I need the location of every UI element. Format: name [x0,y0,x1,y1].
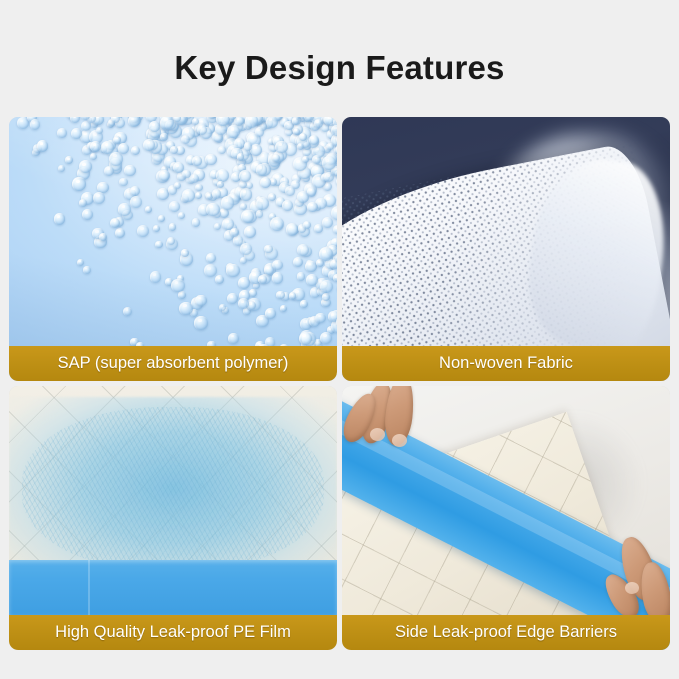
sap-bead [72,177,86,191]
sap-bead [153,225,160,232]
sap-bead [169,223,177,231]
sap-bead [285,186,295,196]
non-woven-photo [342,117,670,381]
sap-bead [192,218,201,227]
sap-bead [226,264,240,278]
sap-bead [256,210,264,218]
sap-bead [264,245,272,253]
sap-bead [124,165,136,177]
sap-bead [239,170,251,182]
sap-bead [322,217,333,228]
sap-bead [182,170,191,179]
sap-bead [130,196,142,208]
fingernail [370,428,385,441]
sap-bead [228,333,239,344]
sap-bead [204,264,217,277]
sap-bead [205,154,217,166]
sap-bead [240,257,247,264]
sap-bead [179,302,192,315]
sap-bead [297,143,304,150]
sap-bead [119,178,128,187]
sap-bead [319,247,333,261]
sap-bead [292,117,300,125]
caption-pe-film: High Quality Leak-proof PE Film [9,615,337,650]
sap-bead [215,275,224,284]
sap-bead [195,192,202,199]
sap-bead [160,133,168,141]
sap-bead [336,176,337,187]
feature-card-sap[interactable]: SAP (super absorbent polymer) [9,117,337,381]
sap-bead [276,291,285,300]
sap-bead [130,186,140,196]
sap-bead [326,143,334,151]
sap-bead [297,191,309,203]
sap-bead [58,165,65,172]
sap-bead [118,203,131,216]
caption-sap: SAP (super absorbent polymer) [9,346,337,381]
sap-bead-cluster [9,117,337,381]
sap-bead [240,188,253,201]
sap-bead [145,206,152,213]
sap-bead [131,146,140,155]
sap-bead [93,192,105,204]
sap-bead [297,272,306,281]
sap-bead [83,266,91,274]
sap-bead [265,308,276,319]
sap-bead [244,226,256,238]
sap-bead [297,244,309,256]
sap-bead [227,125,240,138]
sap-bead [315,313,326,324]
sap-bead [99,233,107,241]
caption-edge-barriers: Side Leak-proof Edge Barriers [342,615,670,650]
sap-bead [314,224,323,233]
sap-bead [118,143,130,155]
sap-bead [182,189,195,202]
feature-grid: SAP (super absorbent polymer) Non-woven … [9,117,670,653]
sap-bead [143,139,155,151]
sap-bead [218,146,226,154]
sap-bead [282,200,294,212]
infographic-page: Key Design Features SAP (super absorbent… [0,0,679,679]
sap-bead [303,221,311,229]
sap-bead [256,197,269,210]
sap-bead [71,128,82,139]
sap-bead [237,153,245,161]
sap-bead [280,305,288,313]
pe-film-photo [9,386,337,650]
sap-bead [307,202,318,213]
sap-bead [256,164,267,175]
sap-bead [158,215,165,222]
sap-bead [333,274,338,282]
sap-bead [320,280,334,294]
sap-photo [9,117,337,381]
sap-bead [324,172,334,182]
sap-bead [77,259,84,266]
sap-bead [314,119,323,128]
sap-bead [266,117,278,128]
sap-bead [90,153,97,160]
sap-bead [240,203,247,210]
sap-bead [250,144,262,156]
sap-bead [227,293,238,304]
sap-bead [128,117,140,127]
page-title: Key Design Features [0,48,679,88]
sap-bead [272,154,280,162]
sap-bead [272,272,284,284]
sap-bead [159,170,170,181]
feature-card-edge-barriers[interactable]: Side Leak-proof Edge Barriers [342,386,670,650]
sap-bead [54,213,65,224]
sap-bead [258,275,267,284]
sap-bead [192,156,201,165]
sap-bead [195,184,202,191]
sap-bead [331,125,337,137]
sap-bead [115,228,125,238]
sap-bead [333,225,337,234]
sap-bead [249,289,257,297]
sap-bead [322,156,336,170]
sap-bead [65,156,73,164]
sap-bead [293,257,303,267]
sap-bead [195,295,206,306]
sap-bead [216,169,229,182]
fingernail [392,434,407,447]
sap-bead [189,174,198,183]
caption-non-woven: Non-woven Fabric [342,346,670,381]
sap-bead [155,241,162,248]
sap-bead [197,125,207,135]
edge-barriers-photo [342,386,670,650]
sap-bead [123,307,132,316]
sap-bead [241,210,254,223]
sap-bead [194,316,207,329]
sap-bead [79,199,87,207]
sap-bead [150,271,161,282]
sap-bead [270,217,284,231]
sap-bead [244,142,253,151]
sap-bead [104,166,114,176]
sap-bead [300,300,308,308]
fingernail [625,582,639,594]
sap-bead [170,146,178,154]
sap-bead [206,203,220,217]
feature-card-non-woven[interactable]: Non-woven Fabric [342,117,670,381]
sap-bead [137,225,149,237]
sap-bead [289,292,296,299]
pe-film-strip [9,560,337,615]
sap-bead [57,128,67,138]
sap-bead [260,177,272,189]
sap-bead [302,156,309,163]
sap-bead [305,261,316,272]
feature-card-pe-film[interactable]: High Quality Leak-proof PE Film [9,386,337,650]
pe-film-absorbed-texture [22,407,324,571]
sap-bead [206,253,216,263]
sap-bead [79,160,92,173]
sap-bead [169,201,180,212]
sap-bead [221,196,234,209]
sap-bead [37,140,49,152]
sap-bead [30,119,41,130]
sap-bead [286,223,298,235]
sap-bead [255,127,265,137]
sap-bead [214,223,221,230]
sap-bead [174,182,181,189]
sap-bead [82,209,93,220]
sap-bead [178,212,186,220]
sap-bead [320,332,333,345]
sap-bead [245,117,259,128]
sap-bead [70,117,80,123]
